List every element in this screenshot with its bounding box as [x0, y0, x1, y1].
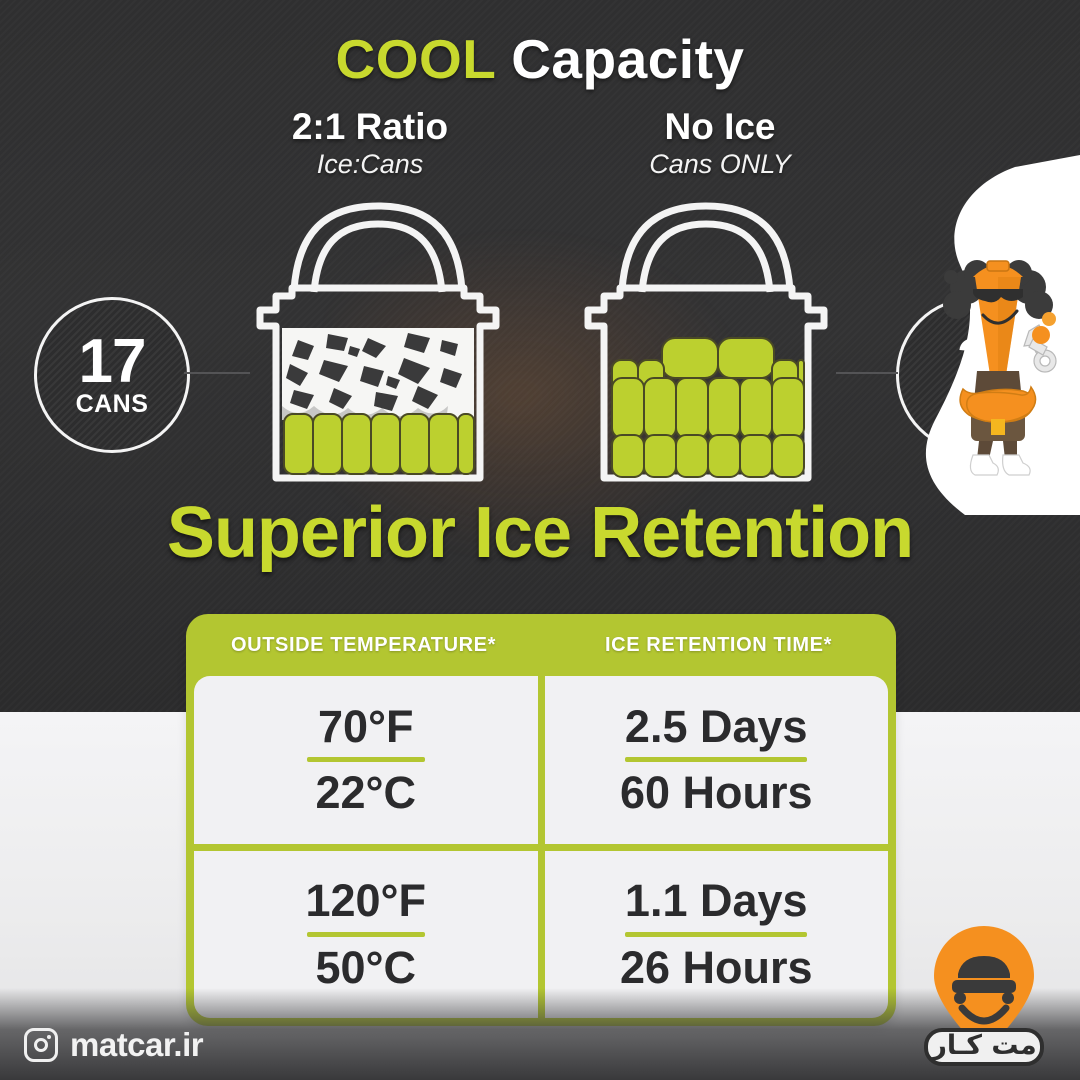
retention-days-row1: 2.5 Days [625, 703, 808, 751]
cooler-cans-only-icon [556, 188, 856, 488]
cooler-with-ice-icon [228, 188, 528, 488]
column-header-right: No Ice Cans ONLY [570, 108, 870, 180]
mascot-character-icon [933, 243, 1063, 483]
matcar-pin-logo[interactable]: مت کـار [904, 912, 1064, 1072]
cell-divider [625, 757, 807, 762]
cell-temperature-row1: 70°F 22°C [194, 676, 538, 844]
column-title-left: 2:1 Ratio [220, 108, 520, 147]
cell-divider [625, 932, 807, 937]
column-subtitle-left: Ice:Cans [220, 149, 520, 180]
retention-hours-row1: 60 Hours [620, 769, 813, 817]
page-title: COOL Capacity [0, 32, 1080, 87]
table-header-temperature: OUTSIDE TEMPERATURE* [186, 614, 541, 676]
instagram-icon [24, 1028, 58, 1062]
table-header-row: OUTSIDE TEMPERATURE* ICE RETENTION TIME* [186, 614, 896, 676]
temp-celsius-row1: 22°C [315, 769, 416, 817]
retention-days-row2: 1.1 Days [625, 877, 808, 925]
brand-text-fa: مت کـار [929, 1030, 1036, 1061]
column-header-left: 2:1 Ratio Ice:Cans [220, 108, 520, 180]
mascot-panel [905, 155, 1080, 515]
ice-retention-table: OUTSIDE TEMPERATURE* ICE RETENTION TIME*… [186, 614, 896, 1026]
cell-divider [307, 932, 425, 937]
temp-fahrenheit-row2: 120°F [305, 877, 426, 925]
table-header-retention: ICE RETENTION TIME* [541, 614, 896, 676]
badge-label-left: CANS [76, 392, 149, 417]
badge-number-left: 17 [79, 333, 146, 390]
instagram-handle: matcar.ir [70, 1026, 203, 1064]
temp-celsius-row2: 50°C [315, 944, 416, 992]
title-accent-word: COOL [336, 28, 496, 90]
column-subtitle-right: Cans ONLY [570, 149, 870, 180]
badge-cans-left: 17 CANS [34, 297, 190, 453]
cell-divider [307, 757, 425, 762]
title-rest: Capacity [495, 28, 744, 90]
cell-retention-row1: 2.5 Days 60 Hours [545, 676, 889, 844]
retention-hours-row2: 26 Hours [620, 944, 813, 992]
infographic-canvas: COOL Capacity 2:1 Ratio Ice:Cans No Ice … [0, 0, 1080, 1080]
temp-fahrenheit-row1: 70°F [318, 703, 414, 751]
table-body: 70°F 22°C 2.5 Days 60 Hours 120°F 50°C [194, 676, 888, 1018]
instagram-watermark[interactable]: matcar.ir [24, 1026, 203, 1064]
column-title-right: No Ice [570, 108, 870, 147]
table-row: 70°F 22°C 2.5 Days 60 Hours [194, 676, 888, 844]
